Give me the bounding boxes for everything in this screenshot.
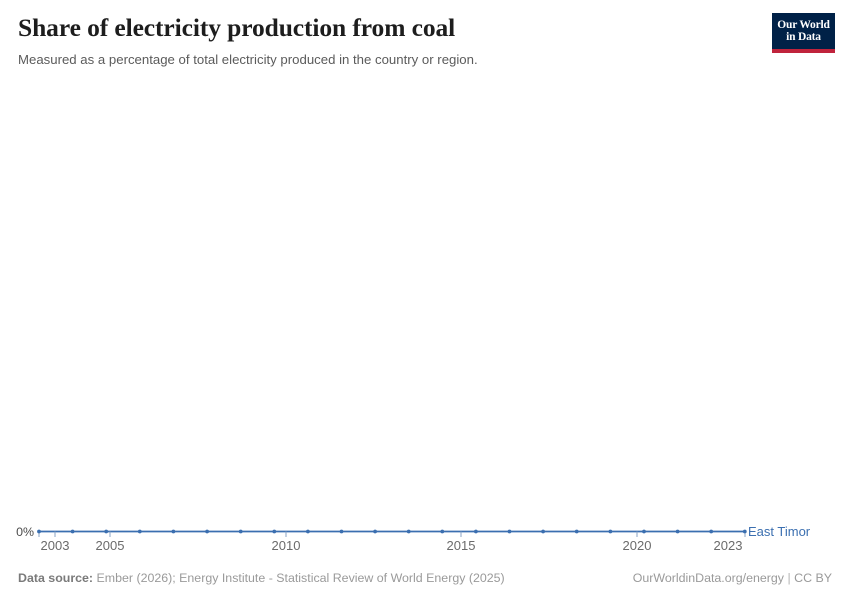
footer-separator: | — [787, 571, 790, 585]
data-point — [709, 530, 713, 534]
data-point — [340, 530, 344, 534]
data-point — [272, 530, 276, 534]
plot-area[interactable]: 0% — [0, 78, 850, 560]
data-point — [71, 530, 75, 534]
license-label[interactable]: CC BY — [794, 571, 832, 585]
x-axis-tick-label: 2023 — [714, 538, 743, 553]
chart-footer: Data source: Ember (2026); Energy Instit… — [18, 571, 832, 586]
x-axis-tick-label: 2020 — [623, 538, 652, 553]
data-point — [541, 530, 545, 534]
data-point — [37, 530, 41, 534]
line-chart-svg: 0% — [0, 78, 850, 560]
footer-attribution: OurWorldinData.org/energy | CC BY — [633, 571, 832, 586]
data-source-text: Ember (2026); Energy Institute - Statist… — [97, 571, 505, 585]
data-point — [743, 530, 747, 534]
data-source: Data source: Ember (2026); Energy Instit… — [18, 571, 505, 586]
data-point — [306, 530, 310, 534]
logo-line-1: Our World — [777, 19, 829, 31]
data-point — [172, 530, 176, 534]
logo-line-2: in Data — [786, 31, 821, 43]
page-title: Share of electricity production from coa… — [18, 14, 758, 43]
x-axis-tick-label: 2003 — [41, 538, 70, 553]
x-axis-tick-label: 2005 — [96, 538, 125, 553]
data-point — [239, 530, 243, 534]
data-point — [575, 530, 579, 534]
data-point — [676, 530, 680, 534]
series-legend-label-east-timor[interactable]: East Timor — [748, 524, 811, 539]
chart-header: Share of electricity production from coa… — [18, 14, 758, 67]
site-url[interactable]: OurWorldinData.org/energy — [633, 571, 784, 585]
data-point — [474, 530, 478, 534]
our-world-in-data-logo[interactable]: Our World in Data — [772, 13, 835, 53]
data-point — [104, 530, 108, 534]
chart-subtitle: Measured as a percentage of total electr… — [18, 43, 758, 68]
data-source-label: Data source: — [18, 571, 93, 585]
y-axis-tick-0: 0% — [16, 525, 34, 539]
data-point — [609, 530, 613, 534]
data-point — [138, 530, 142, 534]
data-point — [407, 530, 411, 534]
data-point — [440, 530, 444, 534]
data-point — [642, 530, 646, 534]
data-point — [205, 530, 209, 534]
x-axis-tick-label: 2015 — [447, 538, 476, 553]
data-point — [373, 530, 377, 534]
owid-chart: Share of electricity production from coa… — [0, 0, 850, 600]
x-axis-tick-label: 2010 — [272, 538, 301, 553]
data-point — [508, 530, 512, 534]
